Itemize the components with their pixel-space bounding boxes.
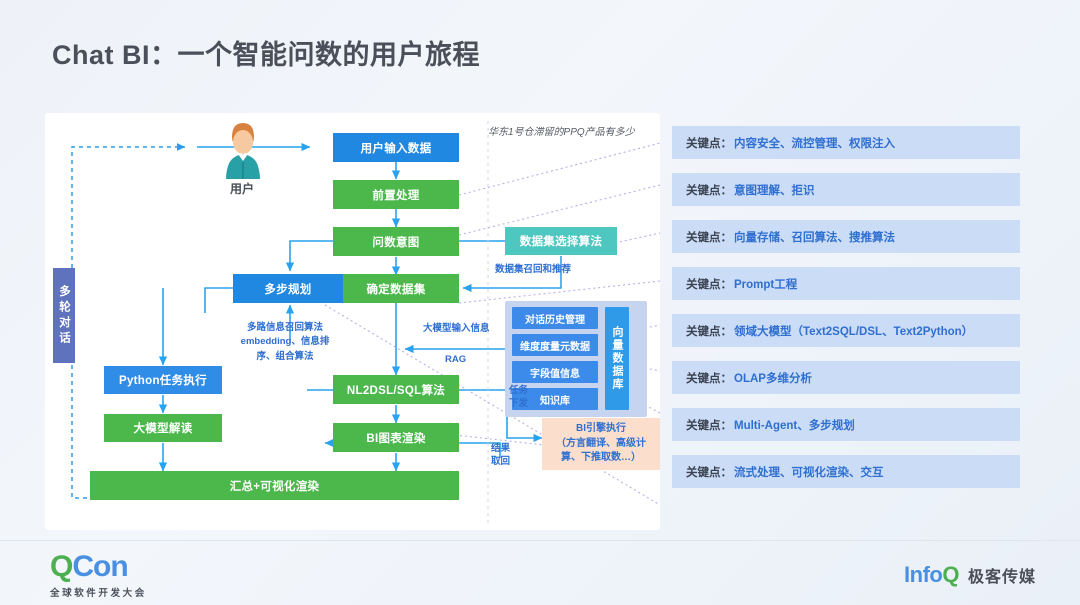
key-point-item-1[interactable]: 关键点： 内容安全、流控管理、权限注入 [672, 126, 1020, 159]
key-point-item-6[interactable]: 关键点： OLAP多维分析 [672, 361, 1020, 394]
node-llm-interpret[interactable]: 大模型解读 [104, 414, 222, 442]
infoq-logo-q: Q [942, 562, 959, 587]
label-task-dispatch-line-1: 任务 [509, 385, 528, 398]
user-caption: 用户 [230, 180, 254, 197]
label-multi-recall-line-1: 多路信息召回算法 [225, 321, 345, 335]
key-point-item-4[interactable]: 关键点： Prompt工程 [672, 267, 1020, 300]
label-rag: RAG [445, 353, 466, 367]
bi-engine-line-2: （方言翻译、高级计 [556, 437, 646, 452]
infoq-logo: InfoQ 极客传媒 [904, 563, 1036, 587]
node-summary-render[interactable]: 汇总+可视化渲染 [90, 471, 459, 500]
vdb-item-dimension-metadata[interactable]: 维度度量元数据 [512, 334, 598, 356]
qcon-logo: QCon 全球软件开发大会 [50, 552, 147, 599]
sample-query-annotation: 华东1号仓滞留的PPQ产品有多少 [488, 125, 635, 140]
key-point-item-2[interactable]: 关键点： 意图理解、拒识 [672, 173, 1020, 206]
key-point-item-5[interactable]: 关键点： 领域大模型（Text2SQL/DSL、Text2Python） [672, 314, 1020, 347]
label-multi-recall-line-3: 序、组合算法 [225, 350, 345, 364]
flow-diagram-canvas: 用户 华东1号仓滞留的PPQ产品有多少 多轮对话 用户输入数据 前置处理 问数意… [45, 113, 660, 530]
label-task-dispatch-line-2: 下发 [509, 398, 528, 411]
key-point-text: 意图理解、拒识 [734, 182, 815, 198]
label-multi-recall-line-2: embedding、信息排 [225, 335, 345, 349]
key-point-label: 关键点： [686, 323, 732, 339]
node-dataset-select-algo[interactable]: 数据集选择算法 [505, 227, 617, 255]
qcon-logo-q: Q [50, 550, 72, 583]
user-avatar-icon [217, 121, 269, 179]
label-result-fetch-line-1: 结果 [491, 443, 510, 456]
key-point-label: 关键点： [686, 417, 732, 433]
key-point-text: 内容安全、流控管理、权限注入 [734, 135, 895, 151]
node-multi-step-plan[interactable]: 多步规划 [233, 274, 343, 303]
label-result-fetch-line-2: 取回 [491, 456, 510, 469]
page-title: Chat BI：一个智能问数的用户旅程 [52, 33, 480, 72]
key-point-text: Prompt工程 [734, 276, 797, 292]
infoq-logo-subtitle: 极客传媒 [968, 563, 1036, 587]
qcon-logo-con: Con [72, 550, 127, 583]
bi-engine-line-1: BI引擎执行 [556, 422, 646, 437]
key-point-label: 关键点： [686, 370, 732, 386]
bi-engine-box[interactable]: BI引擎执行 （方言翻译、高级计 算、下推取数…） [542, 418, 660, 470]
node-query-intent[interactable]: 问数意图 [333, 227, 459, 256]
vdb-item-dialogue-history[interactable]: 对话历史管理 [512, 307, 598, 329]
qcon-logo-subtitle: 全球软件开发大会 [50, 585, 147, 599]
node-confirm-dataset[interactable]: 确定数据集 [333, 274, 459, 303]
footer-divider [0, 540, 1080, 541]
node-python-task[interactable]: Python任务执行 [104, 366, 222, 394]
label-multi-recall: 多路信息召回算法 embedding、信息排 序、组合算法 [225, 321, 345, 364]
multi-turn-dialogue-box: 多轮对话 [53, 268, 75, 363]
label-dataset-recall: 数据集召回和推荐 [495, 263, 571, 277]
infoq-logo-info: Info [904, 562, 942, 587]
label-task-dispatch: 任务 下发 [509, 385, 528, 411]
key-point-text: Multi-Agent、多步规划 [734, 417, 855, 433]
key-point-item-8[interactable]: 关键点： 流式处理、可视化渲染、交互 [672, 455, 1020, 488]
key-point-text: OLAP多维分析 [734, 370, 812, 386]
key-point-text: 流式处理、可视化渲染、交互 [734, 464, 884, 480]
node-user-input[interactable]: 用户输入数据 [333, 133, 459, 162]
bi-engine-line-3: 算、下推取数…） [556, 451, 646, 466]
node-nl2dsl-sql[interactable]: NL2DSL/SQL算法 [333, 375, 459, 404]
key-point-label: 关键点： [686, 229, 732, 245]
key-point-item-3[interactable]: 关键点： 向量存储、召回算法、搜推算法 [672, 220, 1020, 253]
key-point-text: 领域大模型（Text2SQL/DSL、Text2Python） [734, 323, 973, 339]
key-point-label: 关键点： [686, 464, 732, 480]
key-point-label: 关键点： [686, 182, 732, 198]
label-result-fetch: 结果 取回 [491, 443, 510, 469]
key-point-item-7[interactable]: 关键点： Multi-Agent、多步规划 [672, 408, 1020, 441]
key-point-label: 关键点： [686, 276, 732, 292]
vdb-item-field-values[interactable]: 字段值信息 [512, 361, 598, 383]
node-preprocess[interactable]: 前置处理 [333, 180, 459, 209]
key-point-text: 向量存储、召回算法、搜推算法 [734, 229, 895, 245]
label-llm-input: 大模型输入信息 [423, 322, 490, 336]
key-point-label: 关键点： [686, 135, 732, 151]
vector-database-label: 向量数据库 [605, 307, 629, 410]
node-bi-chart-render[interactable]: BI图表渲染 [333, 423, 459, 452]
